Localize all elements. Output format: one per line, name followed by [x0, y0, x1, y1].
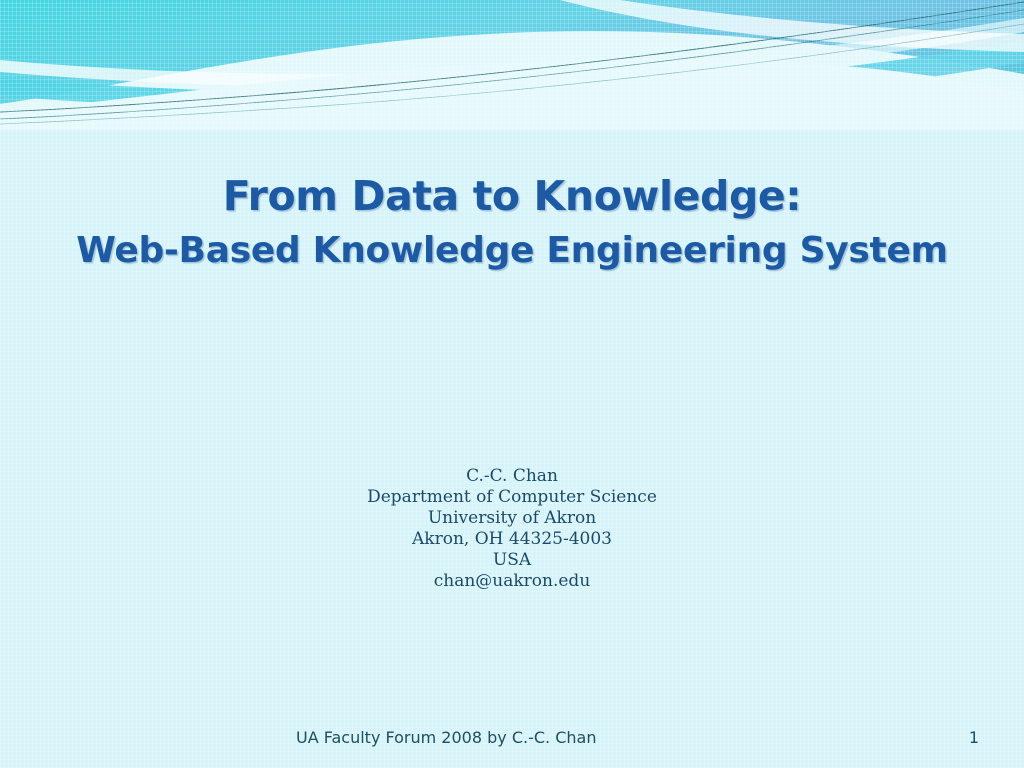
- author-email: chan@uakron.edu: [0, 571, 1024, 592]
- author-country: USA: [0, 550, 1024, 571]
- footer-event-text: UA Faculty Forum 2008 by C.-C. Chan: [296, 726, 596, 750]
- author-name: C.-C. Chan: [0, 466, 1024, 487]
- slide-footer: UA Faculty Forum 2008 by C.-C. Chan 1: [0, 726, 1024, 750]
- slide-title-block: From Data to Knowledge: Web-Based Knowle…: [0, 172, 1024, 274]
- wave-banner-graphic: [0, 0, 1024, 130]
- presentation-slide: From Data to Knowledge: Web-Based Knowle…: [0, 0, 1024, 768]
- author-city-state-zip: Akron, OH 44325-4003: [0, 529, 1024, 550]
- slide-title-line2: Web-Based Knowledge Engineering System: [0, 228, 1024, 274]
- slide-page-number: 1: [962, 726, 986, 750]
- author-university: University of Akron: [0, 508, 1024, 529]
- author-affiliation-block: C.-C. Chan Department of Computer Scienc…: [0, 466, 1024, 592]
- slide-title-line1: From Data to Knowledge:: [0, 172, 1024, 220]
- author-department: Department of Computer Science: [0, 487, 1024, 508]
